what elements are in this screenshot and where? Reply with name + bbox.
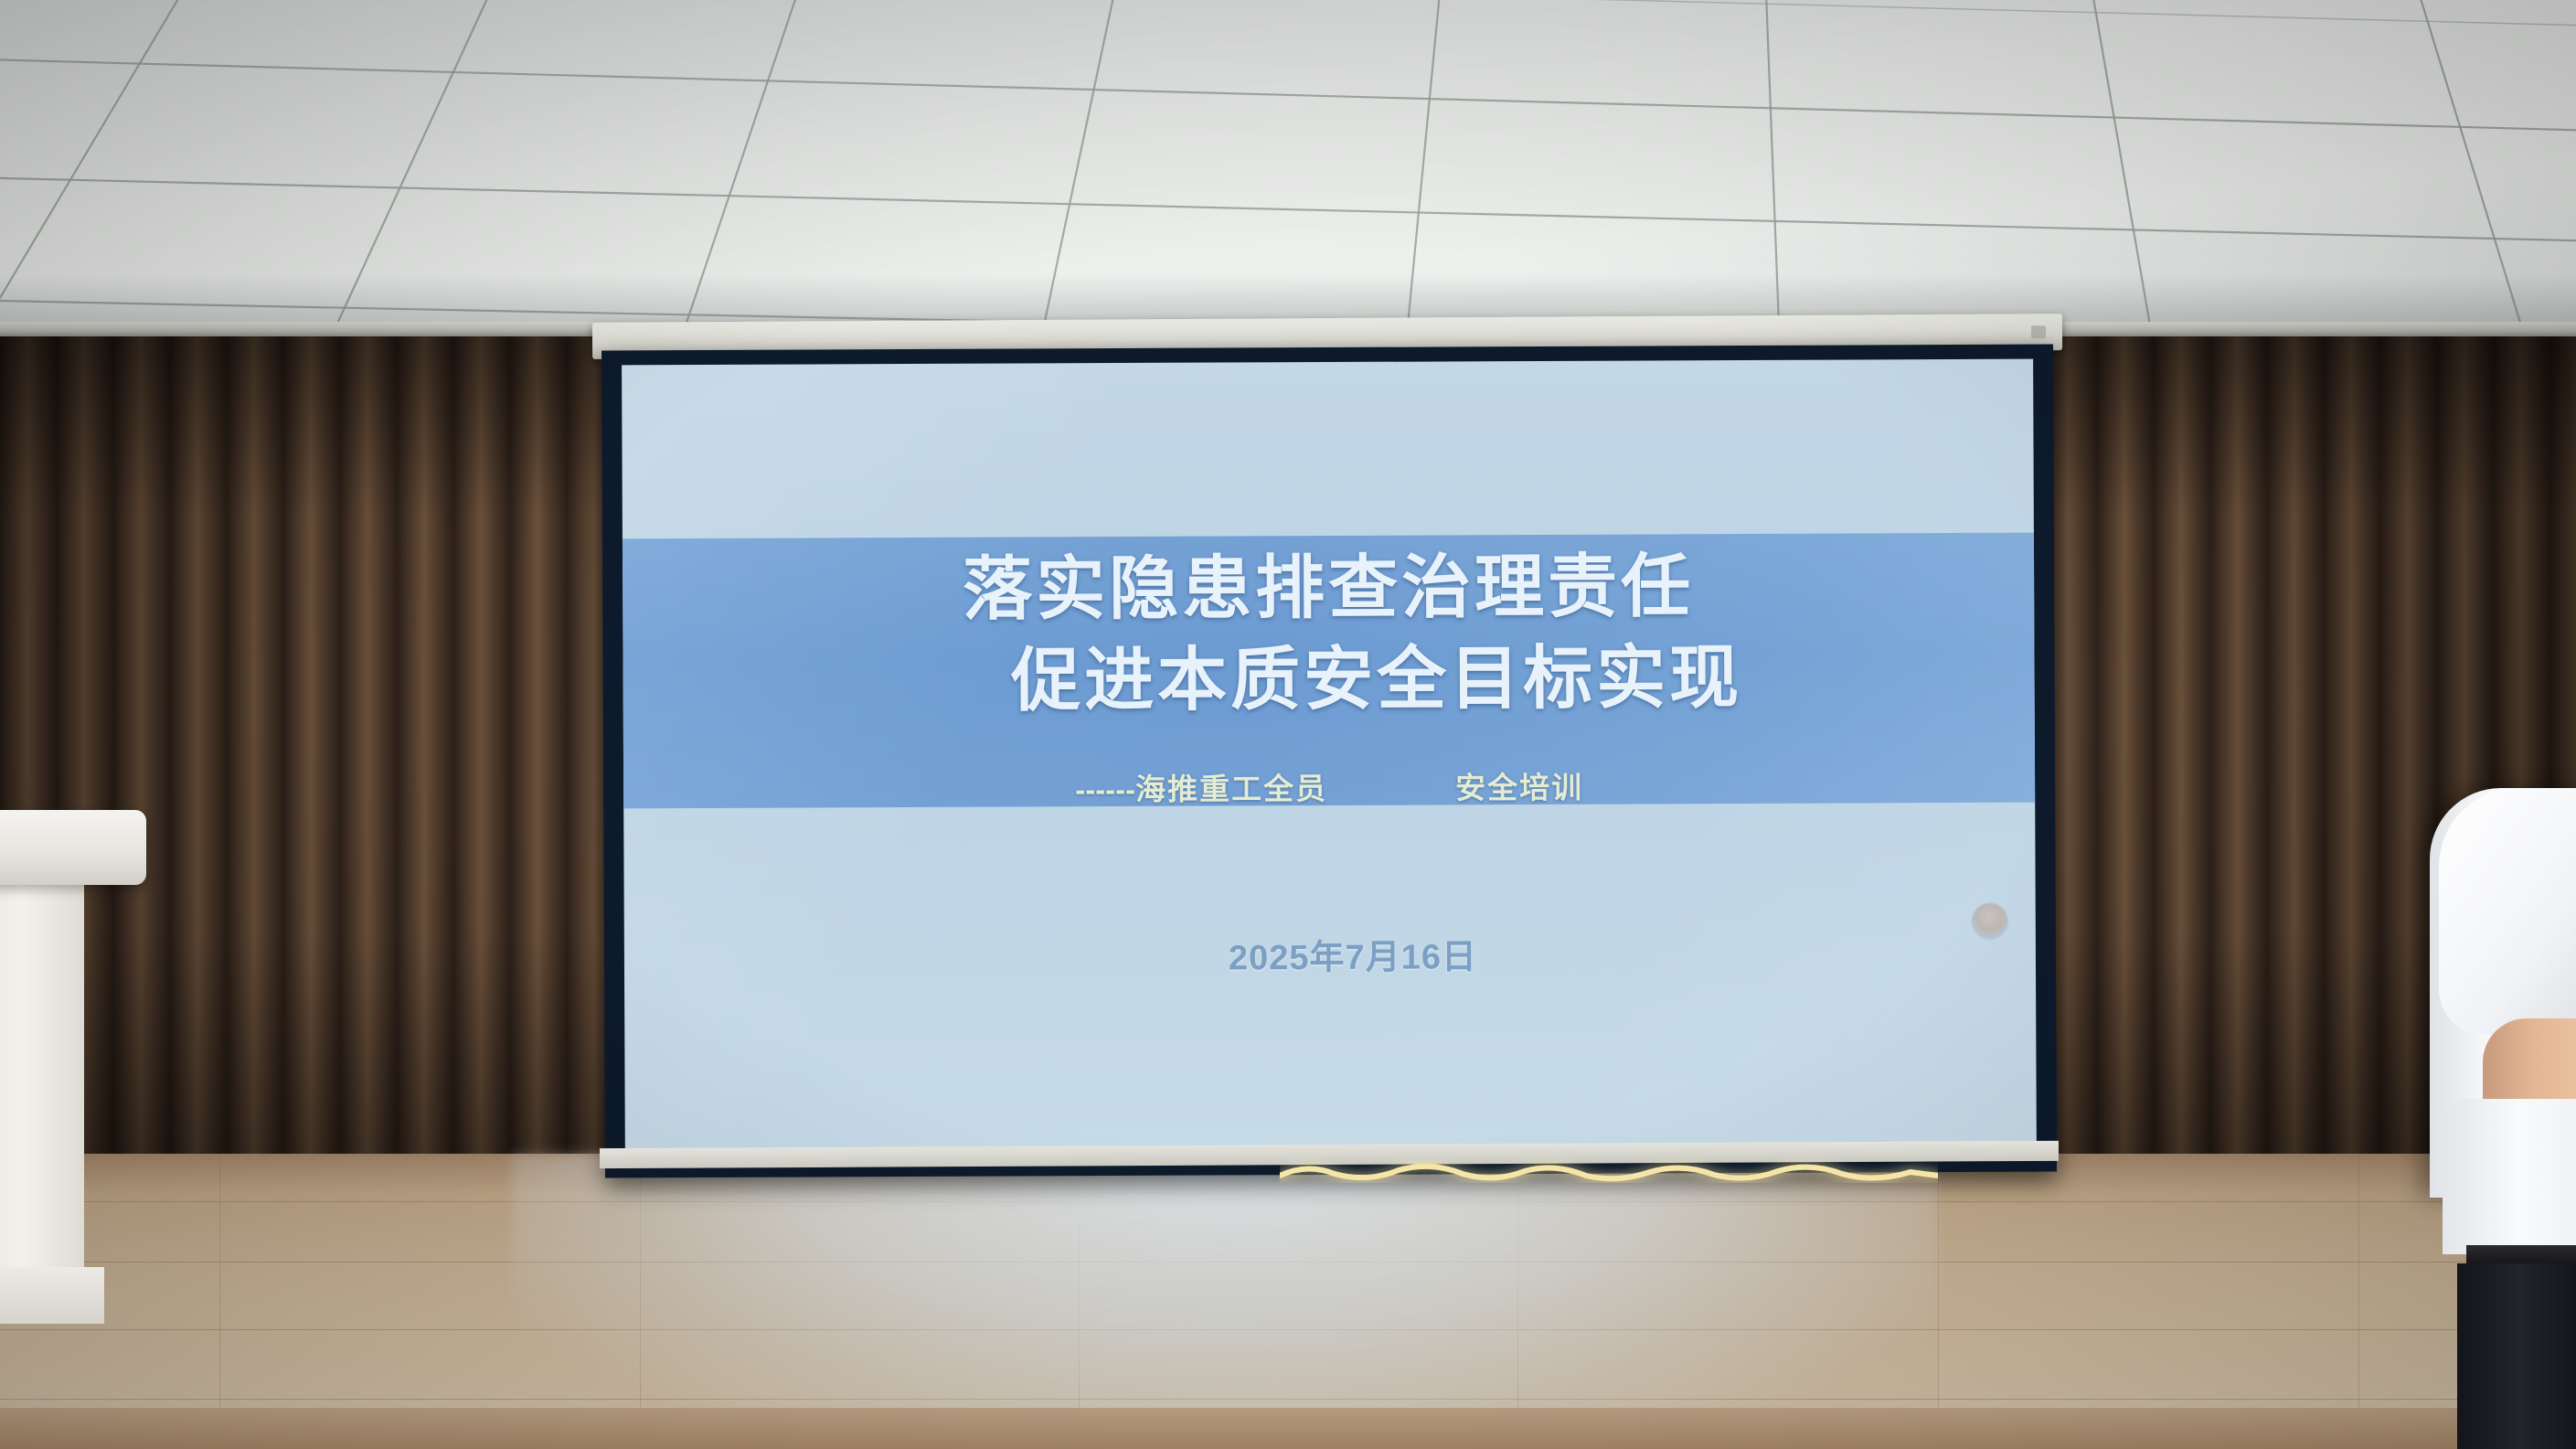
housing-end-cap — [2031, 325, 2046, 338]
slide-subtitle-row: ------海推重工全员 安全培训 — [623, 762, 2035, 812]
standing-person — [2430, 788, 2576, 1449]
slide-date: 2025年7月16日 — [624, 926, 2037, 983]
lectern-column — [0, 881, 84, 1291]
presenter-avatar-icon — [1972, 903, 2008, 940]
string-light-decoration — [1280, 1159, 1938, 1183]
slide-subtitle-dashes: ------ — [1075, 772, 1135, 806]
person-shirt-lower — [2443, 1099, 2576, 1254]
slide-title: 落实隐患排查治理责任 促进本质安全目标实现 — [623, 540, 2035, 730]
slide-subtitle-org-text: 海推重工全员 — [1135, 772, 1327, 806]
slide-title-line-1: 落实隐患排查治理责任 — [623, 540, 2034, 638]
lectern-top — [0, 810, 146, 885]
projector-light-spill — [512, 1154, 1938, 1428]
floor-front-edge — [0, 1408, 2576, 1449]
projection-screen[interactable]: 落实隐患排查治理责任 促进本质安全目标实现 ------海推重工全员 安全培训 … — [601, 345, 2057, 1178]
person-pants — [2457, 1263, 2576, 1449]
person-sleeve — [2439, 788, 2576, 1035]
presentation-slide: 落实隐患排查治理责任 促进本质安全目标实现 ------海推重工全员 安全培训 … — [622, 359, 2037, 1163]
suspended-ceiling — [0, 0, 2576, 329]
lectern-base — [0, 1267, 104, 1324]
slide-title-line-2: 促进本质安全目标实现 — [623, 632, 2034, 730]
white-lectern — [0, 810, 165, 1322]
conference-room-photo: 落实隐患排查治理责任 促进本质安全目标实现 ------海推重工全员 安全培训 … — [0, 0, 2576, 1449]
slide-subtitle-topic: 安全培训 — [1455, 763, 1583, 808]
slide-subtitle-org: ------海推重工全员 — [1075, 764, 1327, 809]
